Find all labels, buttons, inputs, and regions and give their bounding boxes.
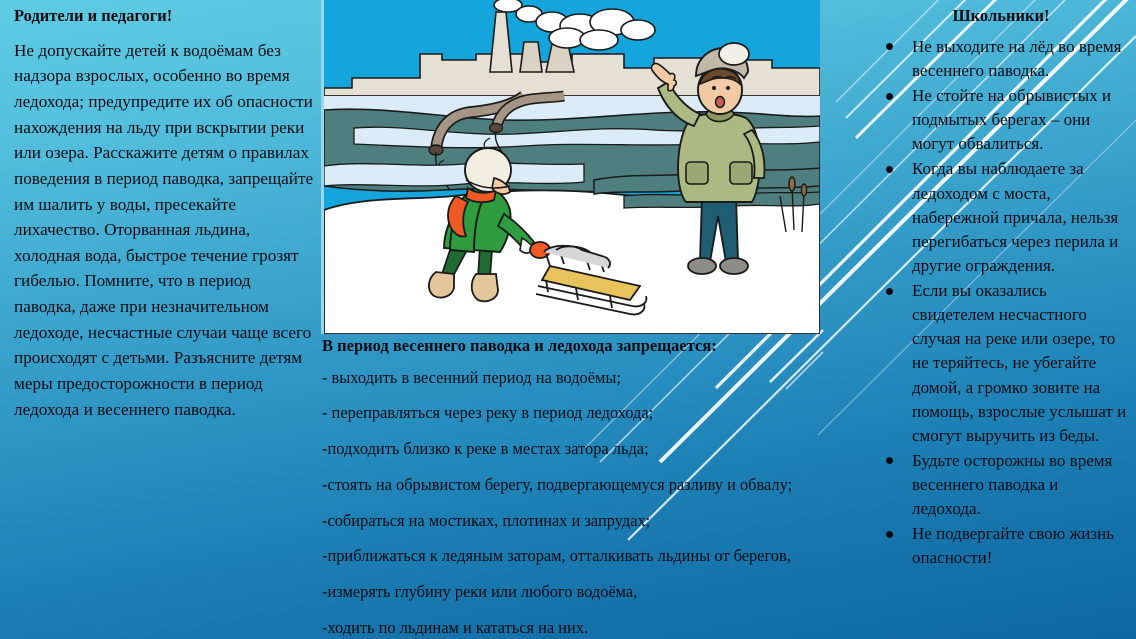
right-column-heading: Школьники! bbox=[875, 6, 1127, 26]
left-column: Родители и педагоги! Не допускайте детей… bbox=[14, 6, 314, 422]
list-item-label: Если вы оказались свидетелем несчастного… bbox=[912, 281, 1126, 445]
left-column-heading: Родители и педагоги! bbox=[14, 6, 314, 26]
left-column-body: Не допускайте детей к водоёмам без надзо… bbox=[14, 38, 314, 422]
center-text-line-1: - выходить в весенний период на водоёмы; bbox=[322, 368, 882, 388]
left-ice-band bbox=[324, 163, 584, 186]
center-text-line-6: -приближаться к ледяным заторам, отталки… bbox=[322, 546, 882, 566]
center-text-line-2: - переправляться через реку в период лед… bbox=[322, 403, 882, 423]
bullet-dot-icon bbox=[886, 43, 893, 50]
list-item: Будьте осторожны во время весеннего паво… bbox=[875, 449, 1127, 521]
center-text-line-8: -ходить по льдинам и кататься на них. bbox=[322, 618, 882, 638]
right-column: Школьники! Не выходите на лёд во время в… bbox=[875, 6, 1127, 572]
center-text-line-3: -подходить близко к реке в местах затора… bbox=[322, 439, 882, 459]
slide-root: Родители и педагоги! Не допускайте детей… bbox=[0, 0, 1136, 639]
list-item-label: Когда вы наблюдаете за ледоходом с моста… bbox=[912, 159, 1118, 275]
list-item: Не стойте на обрывистых и подмытых берег… bbox=[875, 84, 1127, 156]
illustration-artwork bbox=[324, 0, 820, 334]
list-item: Когда вы наблюдаете за ледоходом с моста… bbox=[875, 157, 1127, 278]
center-text-block: В период весеннего паводка и ледохода за… bbox=[322, 336, 882, 639]
center-text-line-4: -стоять на обрывистом берегу, подвергающ… bbox=[322, 475, 882, 495]
list-item-label: Не подвергайте свою жизнь опасности! bbox=[912, 524, 1114, 567]
center-text-line-5: -собираться на мостиках, плотинах и запр… bbox=[322, 511, 882, 531]
right-column-bullet-list: Не выходите на лёд во время весеннего па… bbox=[875, 35, 1127, 571]
boy-boot-right bbox=[472, 274, 498, 301]
list-item-label: Не выходите на лёд во время весеннего па… bbox=[912, 37, 1122, 80]
man-coat bbox=[678, 114, 760, 203]
cooling-tower-1 bbox=[520, 42, 542, 72]
center-text-line-7: -измерять глубину реки или любого водоём… bbox=[322, 582, 882, 602]
bullet-dot-icon bbox=[886, 166, 893, 173]
list-item: Не подвергайте свою жизнь опасности! bbox=[875, 522, 1127, 570]
boy-boot-left bbox=[429, 272, 454, 298]
bullet-dot-icon bbox=[886, 93, 893, 100]
bullet-dot-icon bbox=[886, 531, 893, 538]
list-item-label: Будьте осторожны во время весеннего паво… bbox=[912, 451, 1112, 518]
list-item: Если вы оказались свидетелем несчастного… bbox=[875, 279, 1127, 448]
list-item-label: Не стойте на обрывистых и подмытых берег… bbox=[912, 86, 1111, 153]
list-item: Не выходите на лёд во время весеннего па… bbox=[875, 35, 1127, 83]
winter-river-illustration bbox=[321, 0, 820, 334]
bullet-dot-icon bbox=[886, 288, 893, 295]
bullet-dot-icon bbox=[886, 457, 893, 464]
center-text-heading: В период весеннего паводка и ледохода за… bbox=[322, 336, 882, 356]
